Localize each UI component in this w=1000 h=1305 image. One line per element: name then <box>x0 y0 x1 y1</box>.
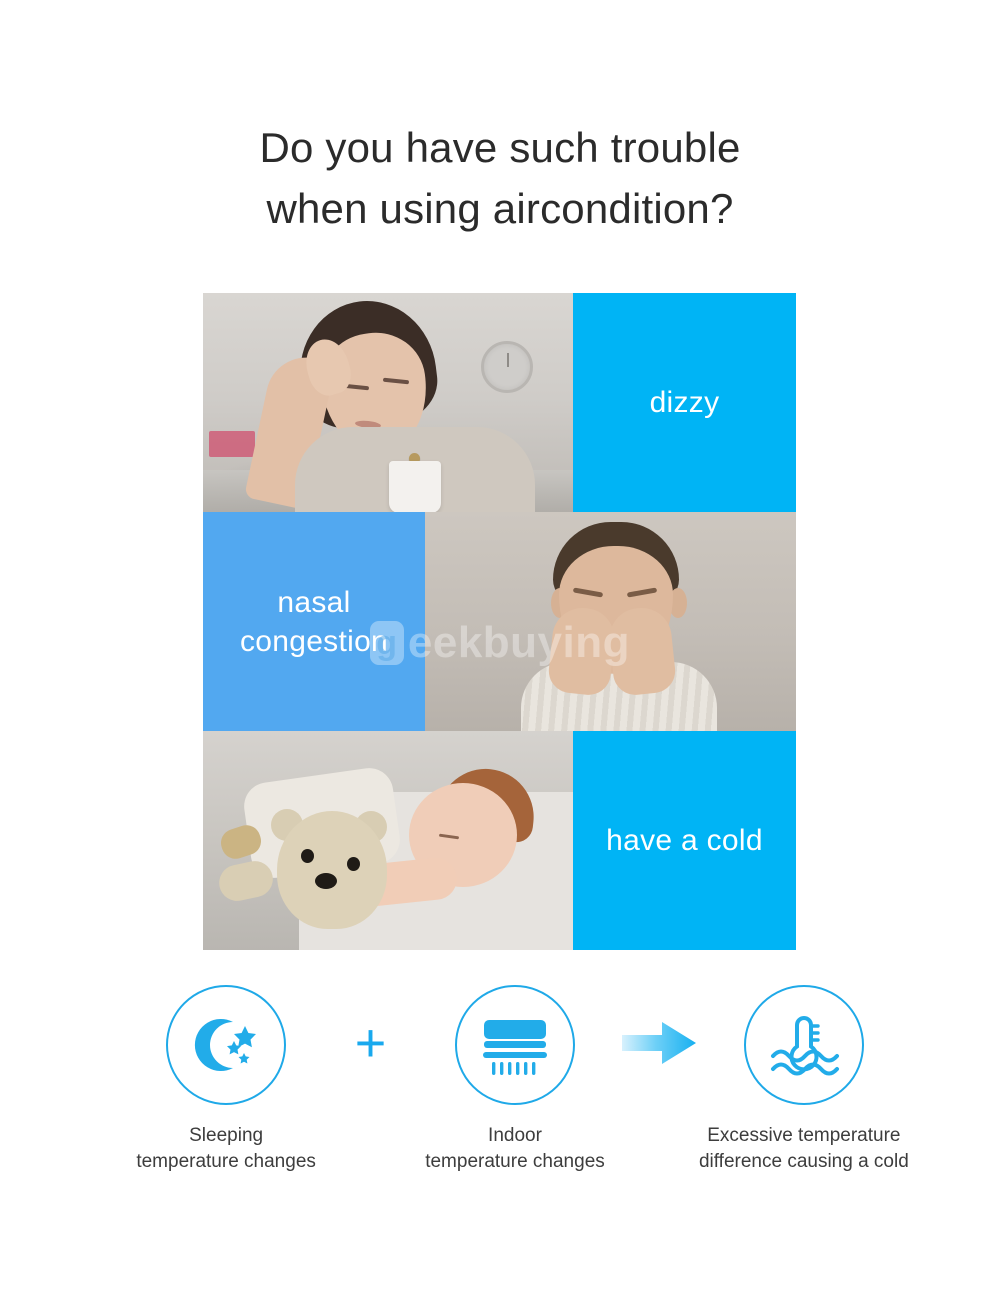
symptom-label-nasal-congestion: nasal congestion <box>203 512 425 731</box>
moon-stars-icon <box>166 985 286 1105</box>
page-title-line-2: when using aircondition? <box>0 179 1000 240</box>
feature-excessive-temperature-difference-caption: Excessive temperature difference causing… <box>699 1123 909 1175</box>
symptom-grid: dizzy nasal congestion <box>203 293 796 950</box>
feature-strip: Sleeping temperature changes + <box>120 985 910 1175</box>
feature-indoor-temperature-caption: Indoor temperature changes <box>425 1123 605 1175</box>
thermometer-waves-icon <box>744 985 864 1105</box>
symptom-label-dizzy: dizzy <box>573 293 796 512</box>
page-title: Do you have such trouble when using airc… <box>0 118 1000 240</box>
symptom-label-nasal-congestion-line-2: congestion <box>240 622 388 661</box>
wall-clock-icon <box>481 341 533 393</box>
sneezing-man-photo <box>425 512 796 731</box>
page-title-line-1: Do you have such trouble <box>0 118 1000 179</box>
sleeping-baby-photo <box>203 731 573 950</box>
connector-arrow <box>621 985 698 1101</box>
feature-sleeping-temperature: Sleeping temperature changes <box>120 985 332 1175</box>
feature-sleeping-temperature-caption: Sleeping temperature changes <box>136 1123 316 1175</box>
symptom-label-have-a-cold: have a cold <box>573 731 796 950</box>
plus-icon: + <box>355 1016 387 1070</box>
feature-caption-line-1: Excessive temperature <box>699 1123 909 1149</box>
feature-caption-line-2: temperature changes <box>136 1149 316 1175</box>
feature-indoor-temperature: Indoor temperature changes <box>409 985 621 1175</box>
symptom-row-have-a-cold: have a cold <box>203 731 796 950</box>
symptom-label-nasal-congestion-line-1: nasal <box>240 583 388 622</box>
tired-woman-at-desk-photo <box>203 293 573 512</box>
promo-page: Do you have such trouble when using airc… <box>0 0 1000 1305</box>
symptom-row-nasal-congestion: nasal congestion <box>203 512 796 731</box>
connector-plus: + <box>332 985 409 1101</box>
symptom-row-dizzy: dizzy <box>203 293 796 512</box>
feature-excessive-temperature-difference: Excessive temperature difference causing… <box>698 985 910 1175</box>
feature-caption-line-1: Sleeping <box>136 1123 316 1149</box>
air-conditioner-icon <box>455 985 575 1105</box>
arrow-right-icon <box>622 1020 696 1066</box>
feature-caption-line-2: difference causing a cold <box>699 1149 909 1175</box>
feature-caption-line-2: temperature changes <box>425 1149 605 1175</box>
feature-caption-line-1: Indoor <box>425 1123 605 1149</box>
